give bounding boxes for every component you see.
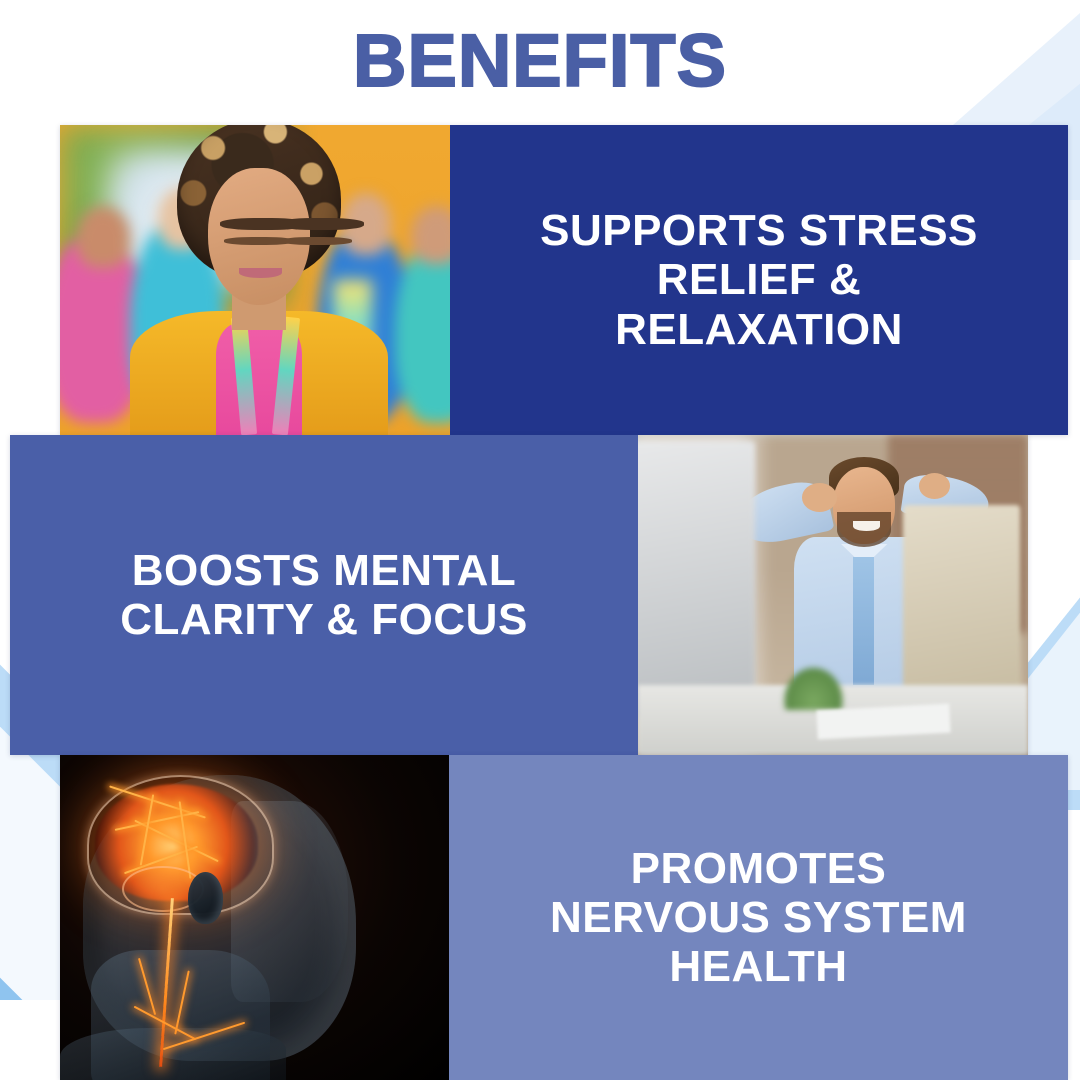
benefit-card-clarity: BOOSTS MENTAL CLARITY & FOCUS (10, 435, 1028, 755)
bottom-left-white-corner-shape (0, 1000, 60, 1080)
nervous-system-head-render-photo (60, 755, 449, 1080)
relaxed-businessman-at-desk-photo (638, 435, 1028, 755)
benefit-card-stress: SUPPORTS STRESS RELIEF & RELAXATION (60, 125, 1068, 435)
benefit-card-clarity-label: BOOSTS MENTAL CLARITY & FOCUS (94, 546, 554, 645)
page-title: BENEFITS (0, 24, 1080, 98)
infographic-canvas: BENEFITS SUPPORTS STRESS RELI (0, 0, 1080, 1080)
benefit-card-nervous-panel: PROMOTES NERVOUS SYSTEM HEALTH (449, 755, 1068, 1080)
benefit-card-stress-panel: SUPPORTS STRESS RELIEF & RELAXATION (450, 125, 1068, 435)
benefit-card-clarity-panel: BOOSTS MENTAL CLARITY & FOCUS (10, 435, 638, 755)
benefit-card-nervous: PROMOTES NERVOUS SYSTEM HEALTH (60, 755, 1068, 1080)
benefit-card-stress-label: SUPPORTS STRESS RELIEF & RELAXATION (514, 206, 1004, 354)
benefit-card-nervous-label: PROMOTES NERVOUS SYSTEM HEALTH (524, 844, 993, 992)
woman-meditating-in-crowd-photo (60, 125, 450, 435)
